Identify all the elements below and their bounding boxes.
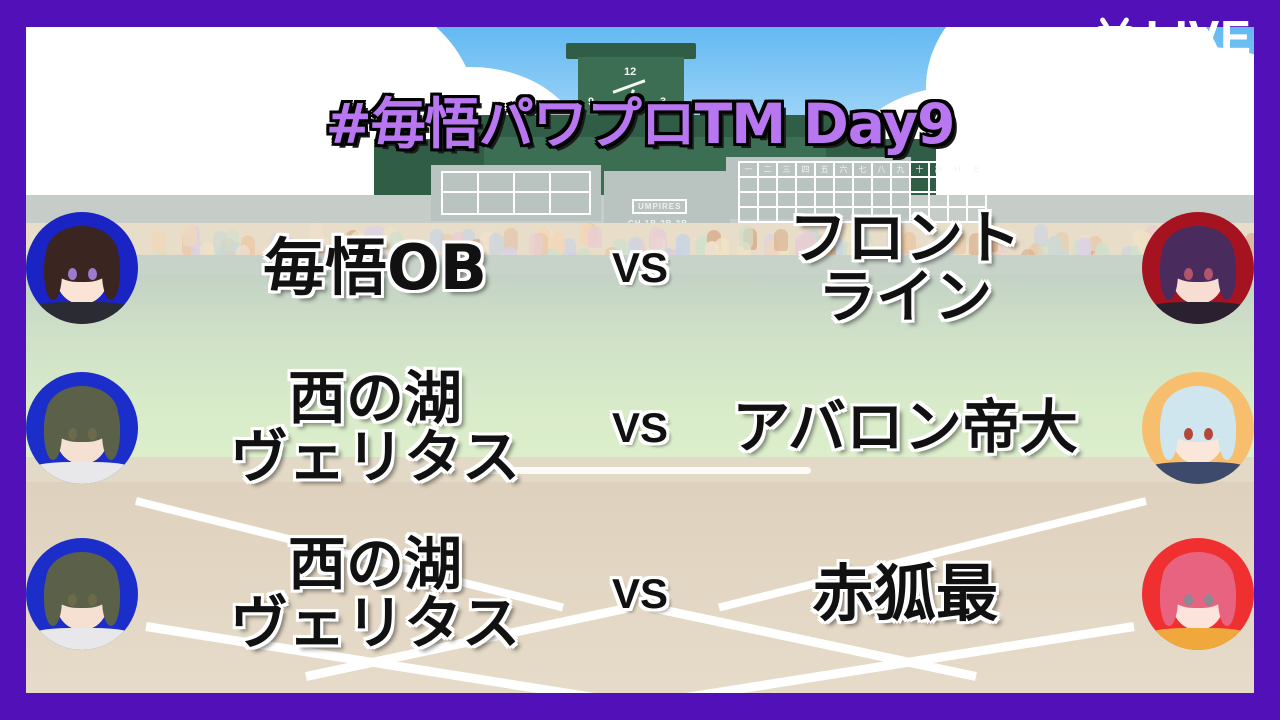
team-name-line: アバロン帝大 [732, 398, 1078, 457]
frame-bottom [0, 693, 1280, 720]
avatar-akagitsune-sai [1142, 538, 1254, 650]
scoreboard-inning-label: 九 [892, 163, 909, 178]
scoreboard-inning-label: 四 [797, 163, 814, 178]
clock-mark-12: 12 [624, 67, 636, 78]
live-label: LIVE [1146, 14, 1252, 60]
avatar-maigo-ob [26, 212, 138, 324]
match-row: 毎悟OBVSフロントライン [26, 188, 1254, 348]
scoreboard-inning-label: 二 [759, 163, 776, 178]
team-name-line: ライン [818, 268, 992, 327]
team-side: 赤狐最 [668, 562, 1142, 625]
live-badge: LIVE [1094, 14, 1252, 60]
team-name: フロントライン [789, 209, 1021, 327]
team-name-line: 毎悟OB [263, 236, 487, 299]
vs-label: VS [612, 407, 668, 449]
vs-label: VS [612, 247, 668, 289]
avatar-avalon-teidai [1142, 372, 1254, 484]
team-name: 西の湖ヴェリタス [230, 369, 520, 487]
avatar-nishinoko-veritas [26, 372, 138, 484]
team-name: 赤狐最 [812, 562, 998, 625]
match-row: 西の湖ヴェリタスVS赤狐最 [26, 508, 1254, 680]
team-name: 西の湖ヴェリタス [230, 535, 520, 653]
scoreboard-inning-label: 三 [778, 163, 795, 178]
team-side: 西の湖ヴェリタス [138, 535, 612, 653]
avatar-nishinoko-veritas-2 [26, 538, 138, 650]
scoreboard-inning-label: 七 [854, 163, 871, 178]
match-row: 西の湖ヴェリタスVSアバロン帝大 [26, 348, 1254, 508]
frame-left [0, 0, 26, 720]
team-name-line: ヴェリタス [230, 428, 520, 487]
tv-play-icon [1094, 18, 1136, 56]
frame-right [1254, 0, 1280, 720]
stream-thumbnail: 12 3 9 UMPIRES CH 1B 2B 3B 一二三四五六七八九十計HE [0, 0, 1280, 720]
scoreboard-inning-label: 六 [835, 163, 852, 178]
frame-top [0, 0, 1280, 27]
team-side: フロントライン [668, 209, 1142, 327]
scoreboard-inning-label: 計 [930, 163, 947, 178]
team-name-line: 西の湖 [288, 535, 462, 594]
team-side: 毎悟OB [138, 236, 612, 299]
team-side: アバロン帝大 [668, 398, 1142, 457]
team-name: 毎悟OB [263, 236, 487, 299]
scoreboard-inning-label: E [968, 163, 985, 178]
team-side: 西の湖ヴェリタス [138, 369, 612, 487]
team-name-line: 西の湖 [288, 369, 462, 428]
team-name-line: ヴェリタス [230, 594, 520, 653]
scoreboard-inning-label: 一 [740, 163, 757, 178]
team-name: アバロン帝大 [732, 398, 1078, 457]
scoreboard-inning-label: H [949, 163, 966, 178]
scoreboard-inning-label: 五 [816, 163, 833, 178]
avatar-frontline [1142, 212, 1254, 324]
team-name-line: 赤狐最 [812, 562, 998, 625]
scoreboard-inning-label: 八 [873, 163, 890, 178]
vs-label: VS [612, 573, 668, 615]
scoreboard-inning-label: 十 [911, 163, 928, 178]
team-name-line: フロント [789, 209, 1021, 268]
page-title: #毎悟パワプロTM Day9 [0, 97, 1280, 152]
